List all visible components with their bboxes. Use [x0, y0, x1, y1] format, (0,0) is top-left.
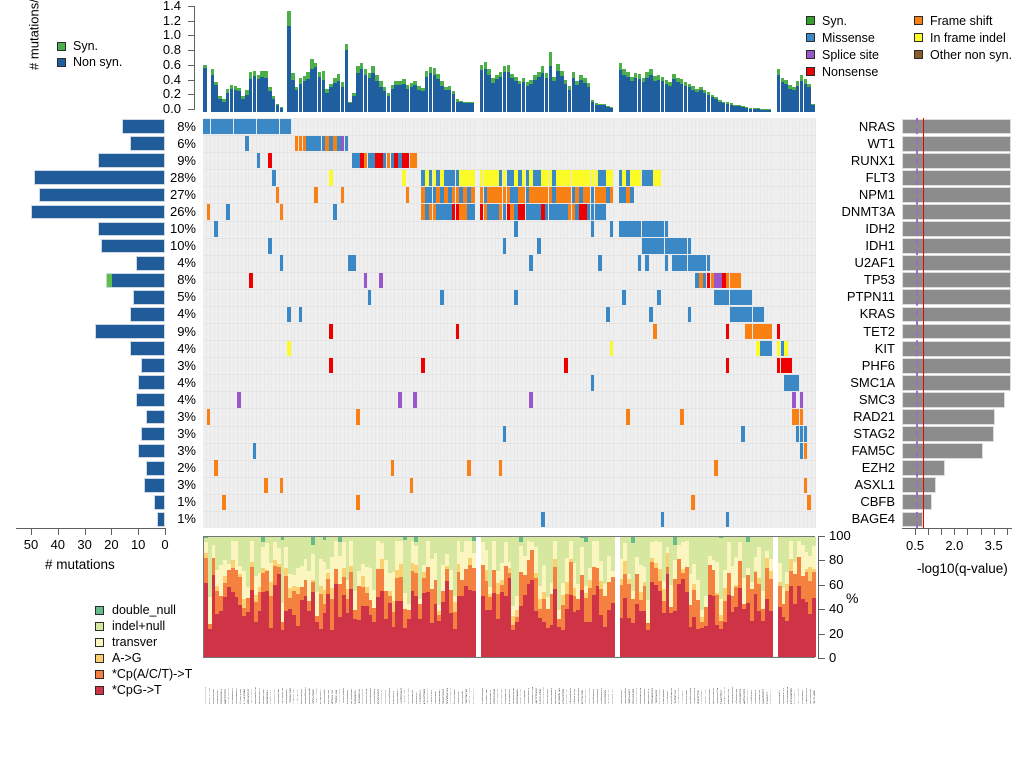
gene-name-label[interactable]: NPM1: [823, 187, 895, 202]
oncoprint-row-divider: [203, 306, 815, 307]
oncoprint-cell[interactable]: [440, 290, 444, 305]
oncoprint-cell[interactable]: [680, 409, 684, 424]
signature-fraction-segment: [472, 568, 476, 591]
oncoprint-cell[interactable]: [626, 409, 630, 424]
gene-mutation-count-bar: [106, 273, 165, 288]
oncoprint-cell[interactable]: [726, 358, 730, 373]
qvalue-tickmark: [928, 528, 929, 535]
signature-fraction-tickmark: [818, 658, 825, 659]
gene-name-column: NRASWT1RUNX1FLT3NPM1DNMT3AIDH2IDH1U2AF1T…: [825, 118, 897, 528]
oncoprint-cell[interactable]: [610, 221, 614, 236]
oncoprint-cell[interactable]: [529, 392, 533, 407]
mutation-rate-ytick: 1.2: [135, 13, 181, 28]
qvalue-dashed-threshold-line: [916, 118, 918, 528]
oncoprint-cell[interactable]: [749, 290, 753, 305]
oncoprint-cell[interactable]: [203, 119, 207, 134]
mutation-rate-bar-syn: [560, 71, 564, 76]
gene-name-label[interactable]: WT1: [823, 136, 895, 151]
signature-legend-item: transver: [95, 634, 255, 650]
oncoprint-cell[interactable]: [760, 307, 764, 322]
mutation-rate-bar-syn: [264, 71, 268, 78]
oncoprint-cell[interactable]: [606, 307, 610, 322]
oncoprint-cell[interactable]: [268, 238, 272, 253]
gene-mutation-count-bar: [98, 153, 165, 168]
oncoprint-cell[interactable]: [287, 341, 291, 356]
qvalue-bar: [902, 238, 1011, 254]
oncoprint-cell[interactable]: [665, 255, 669, 270]
gene-name-label[interactable]: BAGE4: [823, 511, 895, 526]
gene-name-label[interactable]: ASXL1: [823, 477, 895, 492]
oncoprint-cell[interactable]: [341, 187, 345, 202]
mutation-rate-bar-syn: [768, 109, 772, 110]
gene-percent-label: 5%: [158, 289, 196, 304]
oncoprint-cell[interactable]: [707, 255, 711, 270]
gene-mutation-count-bar: [101, 239, 165, 254]
legend-item-splice-site: Splice site: [806, 46, 879, 63]
oncoprint-row-divider: [203, 238, 815, 239]
oncoprint-cell[interactable]: [356, 495, 360, 510]
signature-cluster-divider: [774, 537, 776, 657]
mutation-rate-bar-syn: [272, 96, 276, 99]
gene-percent-label: 1%: [158, 511, 196, 526]
gene-name-label[interactable]: FAM5C: [823, 443, 895, 458]
mutation-rate-bar-syn: [572, 72, 576, 78]
gene-name-label[interactable]: NRAS: [823, 119, 895, 134]
gene-name-label[interactable]: KRAS: [823, 306, 895, 321]
qvalue-bar: [902, 289, 1011, 305]
gene-mutation-count-bar: [39, 188, 165, 203]
gene-percent-label: 9%: [158, 324, 196, 339]
mutation-rate-bar-syn: [345, 44, 349, 50]
mutation-rate-ytick: 0.0: [135, 101, 181, 116]
sample-label: FV0RMWHNJ: [471, 688, 474, 704]
gene-percent-column: 8%6%9%28%27%26%10%10%4%8%5%4%9%4%3%4%4%3…: [162, 118, 200, 528]
signature-fraction-segment: [812, 572, 816, 599]
signature-fraction-segment: [812, 537, 816, 546]
gene-percent-label: 3%: [158, 409, 196, 424]
oncoprint-cell[interactable]: [287, 307, 291, 322]
gene-name-label[interactable]: FLT3: [823, 170, 895, 185]
oncoprint-row-divider: [203, 323, 815, 324]
oncoprint-cell[interactable]: [691, 495, 695, 510]
oncoprint-cell[interactable]: [800, 409, 804, 424]
oncoprint-cell[interactable]: [257, 153, 261, 168]
gene-name-label[interactable]: TP53: [823, 272, 895, 287]
signature-fraction-bar: [611, 537, 615, 657]
gene-name-label[interactable]: SMC1A: [823, 375, 895, 390]
oncoprint-cell[interactable]: [207, 409, 211, 424]
oncoprint-cell[interactable]: [800, 392, 804, 407]
mutation-rate-bar-syn: [322, 71, 326, 80]
signature-fraction-tickmark: [818, 609, 825, 610]
signature-fraction-segment: [769, 571, 773, 579]
mutation-rate-ytick: 1.4: [135, 0, 181, 13]
gene-name-label[interactable]: CBFB: [823, 494, 895, 509]
oncoprint-cell[interactable]: [333, 204, 337, 219]
qvalue-bar: [902, 443, 983, 459]
mutation-rate-bar-syn: [811, 104, 815, 106]
signature-fraction-segment: [769, 610, 773, 657]
oncoprint-row-divider: [203, 443, 815, 444]
gene-mutation-count-bar: [34, 170, 165, 185]
oncoprint-cell[interactable]: [314, 187, 318, 202]
oncoprint-cell[interactable]: [345, 136, 349, 151]
oncoprint-cell[interactable]: [591, 375, 595, 390]
signature-fraction-ytick: 80: [829, 552, 843, 567]
oncoprint-cell[interactable]: [268, 153, 272, 168]
oncoprint-cell[interactable]: [471, 187, 475, 202]
oncoprint-cell[interactable]: [368, 290, 372, 305]
qvalue-barplot: [902, 118, 1012, 528]
oncoprint-cell[interactable]: [768, 341, 772, 356]
legend-label-syn2: Syn.: [822, 14, 847, 28]
qvalue-xaxis: 0.52.03.5: [880, 528, 1020, 562]
oncoprint-cell[interactable]: [514, 221, 518, 236]
mutation-rate-bar-syn: [549, 52, 553, 66]
gene-name-label[interactable]: KIT: [823, 341, 895, 356]
gene-mutation-count-tickmark: [58, 528, 59, 535]
signature-fraction-segment: [611, 537, 615, 571]
oncoprint-cell[interactable]: [207, 204, 211, 219]
signature-swatch: [95, 686, 104, 695]
oncoprint-row-divider: [203, 408, 815, 409]
oncoprint-cell[interactable]: [622, 290, 626, 305]
mutation-rate-bar-syn: [379, 81, 383, 86]
signature-legend-item: indel+null: [95, 618, 255, 634]
signature-legend-label: A->G: [112, 651, 142, 665]
qvalue-tickmark: [954, 528, 955, 535]
legend-label-nonsyn: Non syn.: [73, 55, 122, 69]
oncoprint-cell[interactable]: [792, 392, 796, 407]
oncoprint-cell[interactable]: [541, 512, 545, 527]
gene-percent-label: 4%: [158, 375, 196, 390]
signature-fraction-ytick: 100: [829, 528, 851, 543]
mutation-rate-ylabel: # mutations/Mb: [27, 0, 42, 86]
oncoprint-cell[interactable]: [299, 307, 303, 322]
oncoprint-cell[interactable]: [214, 460, 218, 475]
legend-item-in-frame-indel: In frame indel: [914, 29, 1012, 46]
oncoprint-cell[interactable]: [645, 255, 649, 270]
oncoprint-row-divider: [203, 391, 815, 392]
qvalue-bar: [902, 221, 1011, 237]
oncoprint-cell[interactable]: [226, 204, 230, 219]
oncoprint-cell[interactable]: [788, 358, 792, 373]
gene-mutation-count-bar: [98, 222, 165, 237]
mutation-rate-bar: [203, 65, 207, 112]
signature-fraction-segment: [472, 591, 476, 658]
legend-label-missense: Missense: [822, 31, 875, 45]
oncoprint-row-divider: [203, 357, 815, 358]
oncoprint-cell[interactable]: [796, 375, 800, 390]
gene-mutation-count-bar: [31, 205, 165, 220]
in-frame-indel-swatch: [914, 33, 923, 42]
signature-fraction-segment: [812, 598, 816, 657]
oncoprint-cell[interactable]: [280, 204, 284, 219]
sample-strip-divider: [476, 660, 478, 704]
oncoprint-cell[interactable]: [214, 221, 218, 236]
oncoprint-row-divider: [203, 255, 815, 256]
oncoprint-cell[interactable]: [726, 324, 730, 339]
oncoprint-cell[interactable]: [610, 187, 614, 202]
qvalue-xtick: 3.5: [976, 538, 1012, 553]
oncoprint-cell[interactable]: [410, 478, 414, 493]
mutation-rate-bar-syn: [337, 74, 341, 81]
oncoprint-cell[interactable]: [222, 495, 226, 510]
oncoprint-row-divider: [203, 340, 815, 341]
gene-name-label[interactable]: TET2: [823, 324, 895, 339]
mutation-rate-bar-nonsyn: [610, 108, 614, 113]
mutation-rate-yaxis: 1.41.21.00.80.60.40.20.0: [131, 6, 195, 112]
gene-name-label[interactable]: RAD21: [823, 409, 895, 424]
oncoprint-row-divider: [203, 511, 815, 512]
gene-percent-label: 4%: [158, 255, 196, 270]
oncoprint-cell[interactable]: [784, 341, 788, 356]
signature-fraction-ytick: 20: [829, 626, 843, 641]
gene-mutation-count-bar-syn: [107, 274, 112, 287]
oncoprint-row-divider: [203, 374, 815, 375]
mutation-rate-bar-syn: [436, 74, 440, 79]
oncoprint-cell[interactable]: [471, 204, 475, 219]
nonsyn-swatch: [57, 58, 66, 67]
gene-mutation-count-xlabel: # mutations: [45, 557, 115, 572]
mutation-rate-bar-syn: [268, 87, 272, 91]
legend-label-splice-site: Splice site: [822, 48, 879, 62]
gene-mutation-count-tickmark: [111, 528, 112, 535]
oncoprint-cell[interactable]: [413, 153, 417, 168]
oncoprint-cell[interactable]: [657, 290, 661, 305]
mutation-rate-bar-syn: [203, 65, 207, 68]
qvalue-bar: [902, 358, 1011, 374]
oncoprint-row-divider: [203, 477, 815, 478]
oncoprint-cell[interactable]: [661, 512, 665, 527]
signature-fraction-segment: [812, 545, 816, 568]
oncoprint-cell[interactable]: [503, 426, 507, 441]
qvalue-bar: [902, 512, 923, 528]
qvalue-tickmark: [915, 528, 916, 535]
signature-fraction-segment: [611, 603, 615, 657]
oncoprint-cell[interactable]: [688, 307, 692, 322]
oncoprint-cell[interactable]: [471, 170, 475, 185]
mutation-rate-bar-syn: [556, 64, 560, 71]
oncoprint-cell[interactable]: [807, 495, 811, 510]
oncoprint-cell[interactable]: [726, 512, 730, 527]
oncoprint-cell[interactable]: [529, 255, 533, 270]
oncoprint-cell[interactable]: [276, 187, 280, 202]
sample-strip-divider: [773, 660, 775, 704]
signature-fraction-segment: [611, 570, 615, 577]
oncoprint-cell[interactable]: [598, 255, 602, 270]
gene-name-label[interactable]: PHF6: [823, 358, 895, 373]
gene-name-label[interactable]: U2AF1: [823, 255, 895, 270]
legend-label-frame-shift: Frame shift: [930, 14, 993, 28]
oncoprint-cell[interactable]: [253, 443, 257, 458]
signature-fraction-segment: [611, 577, 615, 603]
gene-mutation-count-bar: [95, 324, 165, 339]
mutation-rate-bar-syn: [211, 69, 215, 75]
gene-mutation-count-tickmark: [31, 528, 32, 535]
sample-label: 7TTW6AE48: [768, 689, 771, 704]
oncoprint-cell[interactable]: [741, 426, 745, 441]
oncoprint-cell[interactable]: [364, 273, 368, 288]
oncoprint-cell[interactable]: [503, 238, 507, 253]
oncoprint-cell[interactable]: [287, 119, 291, 134]
oncoprint-cell[interactable]: [280, 478, 284, 493]
signature-fraction-tickmark: [818, 585, 825, 586]
oncoprint-row-divider: [203, 494, 815, 495]
signature-swatch: [95, 638, 104, 647]
oncoprint-cell[interactable]: [280, 255, 284, 270]
signature-cluster-divider: [477, 537, 479, 657]
qvalue-bar: [902, 375, 1011, 391]
oncoprint-cell[interactable]: [329, 358, 333, 373]
oncoprint-cell[interactable]: [456, 324, 460, 339]
oncoprint-cell[interactable]: [630, 187, 634, 202]
oncoprint-cell[interactable]: [610, 341, 614, 356]
signature-fraction-segment: [472, 541, 476, 552]
gene-name-label[interactable]: IDH1: [823, 238, 895, 253]
signature-legend-item: A->G: [95, 650, 255, 666]
qvalue-bar: [902, 187, 1011, 203]
mutation-rate-bar-syn: [507, 65, 511, 72]
gene-name-label[interactable]: SMC3: [823, 392, 895, 407]
gene-percent-label: 26%: [158, 204, 196, 219]
sample-strip-divider: [615, 660, 617, 704]
mutation-rate-bar-syn: [452, 91, 456, 94]
oncoprint-cell[interactable]: [653, 324, 657, 339]
gene-name-label[interactable]: IDH2: [823, 221, 895, 236]
signature-fraction-ytick: 40: [829, 601, 843, 616]
qvalue-tickmark: [941, 528, 942, 535]
gene-percent-label: 1%: [158, 494, 196, 509]
legend-item-nonsense: Nonsense: [806, 63, 879, 80]
oncoprint-cell[interactable]: [245, 136, 249, 151]
mutation-rate-bar-syn: [214, 82, 218, 85]
oncoprint-cell[interactable]: [591, 221, 595, 236]
mutation-rate-bar-syn: [287, 11, 291, 26]
qvalue-bar: [902, 324, 1011, 340]
oncoprint-cell[interactable]: [352, 255, 356, 270]
gene-percent-label: 6%: [158, 136, 196, 151]
signature-fraction-bar: [769, 537, 773, 657]
mutation-rate-bar-syn: [413, 81, 417, 86]
mutation-rate-bar-syn: [591, 100, 595, 102]
gene-mutation-count-tickmark: [138, 528, 139, 535]
gene-name-label[interactable]: PTPN11: [823, 289, 895, 304]
oncoprint-cell[interactable]: [249, 273, 253, 288]
mutation-rate-bar-syn: [564, 80, 568, 85]
oncoprint-cell[interactable]: [602, 204, 606, 219]
mutation-rate-bar-nonsyn: [203, 68, 207, 112]
mutation-rate-bar: [768, 109, 772, 112]
oncoprint-cell[interactable]: [768, 324, 772, 339]
oncoprint-cell[interactable]: [610, 170, 614, 185]
oncoprint-row-divider: [203, 221, 815, 222]
oncoprint-cell[interactable]: [638, 255, 642, 270]
oncoprint-cell[interactable]: [804, 426, 808, 441]
oncoprint-cell[interactable]: [737, 273, 741, 288]
gene-name-label[interactable]: RUNX1: [823, 153, 895, 168]
oncoprint-cell[interactable]: [421, 358, 425, 373]
gene-percent-label: 3%: [158, 426, 196, 441]
mutation-rate-bar-nonsyn: [280, 108, 284, 112]
oncoprint-cell[interactable]: [499, 460, 503, 475]
gene-name-label[interactable]: DNMT3A: [823, 204, 895, 219]
qvalue-xtick: 0.5: [897, 538, 933, 553]
signature-legend-label: *CpG->T: [112, 683, 162, 697]
oncoprint-cell[interactable]: [398, 392, 402, 407]
gene-percent-label: 8%: [158, 119, 196, 134]
qvalue-bar: [902, 341, 1011, 357]
oncoprint-cell[interactable]: [379, 273, 383, 288]
oncoprint-cell[interactable]: [688, 238, 692, 253]
mutation-rate-bar-syn: [276, 104, 280, 106]
oncoprint-cell[interactable]: [402, 170, 406, 185]
gene-name-label[interactable]: EZH2: [823, 460, 895, 475]
oncoprint-cell[interactable]: [264, 478, 268, 493]
qvalue-bar: [902, 170, 1011, 186]
oncoprint-cell[interactable]: [804, 443, 808, 458]
mutation-rate-ytick: 1.0: [135, 27, 181, 42]
qvalue-tickmark: [1007, 528, 1008, 535]
qvalue-threshold-line: [923, 118, 924, 528]
oncoprint-cell[interactable]: [714, 460, 718, 475]
oncoprint-cell[interactable]: [413, 392, 417, 407]
oncoprint-cell[interactable]: [514, 290, 518, 305]
oncoprint-cell[interactable]: [237, 392, 241, 407]
oncoprint-cell[interactable]: [657, 170, 661, 185]
mutation-rate-ytick: 0.8: [135, 42, 181, 57]
signature-swatch: [95, 606, 104, 615]
oncoprint-row-divider: [203, 152, 815, 153]
oncoprint-cell[interactable]: [391, 460, 395, 475]
signature-swatch: [95, 622, 104, 631]
signature-legend-label: double_null: [112, 603, 176, 617]
mutation-rate-ylabel-text: # mutations/Mb: [27, 0, 42, 70]
mutation-rate-ytick: 0.4: [135, 72, 181, 87]
gene-name-label[interactable]: STAG2: [823, 426, 895, 441]
oncoprint-cell[interactable]: [272, 170, 276, 185]
oncoprint-cell[interactable]: [665, 221, 669, 236]
gene-percent-label: 9%: [158, 153, 196, 168]
oncoprint-cell[interactable]: [564, 358, 568, 373]
oncoprint-grid[interactable]: [203, 118, 815, 528]
signature-fraction-bar: [472, 537, 476, 657]
mutation-rate-bar-syn: [587, 83, 591, 87]
oncoprint-cell[interactable]: [777, 324, 781, 339]
mutation-rate-bar-syn: [371, 66, 375, 74]
oncoprint-cell[interactable]: [649, 307, 653, 322]
oncoprint-cell[interactable]: [356, 409, 360, 424]
signature-fraction-tickmark: [818, 536, 825, 537]
gene-percent-label: 3%: [158, 477, 196, 492]
legend-item-syn2: Syn.: [806, 12, 879, 29]
gene-percent-label: 10%: [158, 238, 196, 253]
signature-fraction-segment: [769, 578, 773, 610]
oncoprint-cell[interactable]: [537, 238, 541, 253]
mutation-rate-bar-syn: [807, 84, 811, 88]
mutation-rate-bar-syn: [291, 73, 295, 80]
signature-fraction-segment: [812, 568, 816, 572]
oncoprint-cell[interactable]: [329, 324, 333, 339]
oncoprint-cell[interactable]: [804, 478, 808, 493]
oncoprint-cell[interactable]: [329, 170, 333, 185]
qvalue-bar: [902, 272, 1011, 288]
oncoprint-cell[interactable]: [467, 460, 471, 475]
oncoprint-cell[interactable]: [406, 187, 410, 202]
signature-fraction-segment: [472, 537, 476, 542]
other-non-syn-swatch: [914, 50, 923, 59]
gene-percent-label: 2%: [158, 460, 196, 475]
